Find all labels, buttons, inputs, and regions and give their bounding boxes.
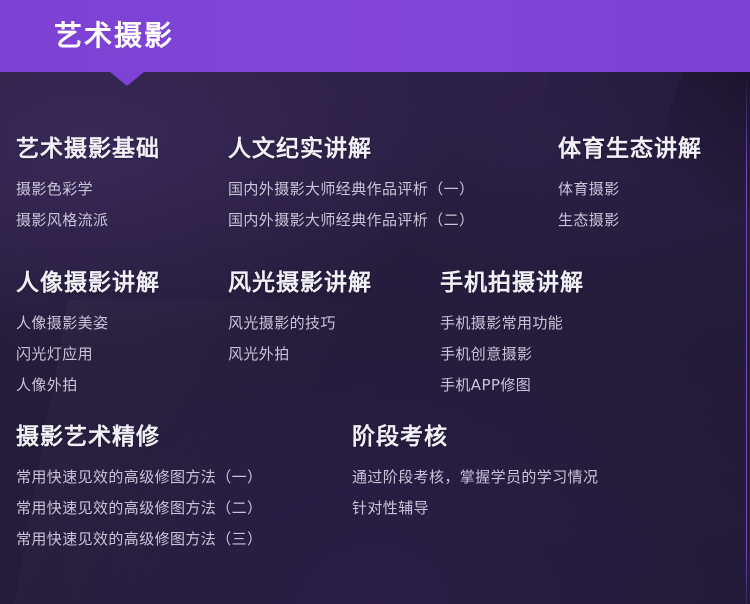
- list-item[interactable]: 通过阶段考核，掌握学员的学习情况: [352, 462, 598, 493]
- list-item[interactable]: 国内外摄影大师经典作品评析（二）: [228, 205, 474, 236]
- section-item-list: 通过阶段考核，掌握学员的学习情况 针对性辅导: [352, 462, 598, 524]
- list-item[interactable]: 人像摄影美姿: [16, 308, 160, 339]
- section-title: 摄影艺术精修: [16, 422, 262, 452]
- section-title: 风光摄影讲解: [228, 268, 372, 298]
- section-item-list: 体育摄影 生态摄影: [558, 174, 702, 236]
- list-item[interactable]: 体育摄影: [558, 174, 702, 205]
- list-item[interactable]: 手机摄影常用功能: [440, 308, 584, 339]
- list-item[interactable]: 摄影色彩学: [16, 174, 160, 205]
- section-sports-ecology: 体育生态讲解 体育摄影 生态摄影: [558, 134, 702, 236]
- section-item-list: 风光摄影的技巧 风光外拍: [228, 308, 372, 370]
- section-item-list: 摄影色彩学 摄影风格流派: [16, 174, 160, 236]
- section-title: 手机拍摄讲解: [440, 268, 584, 298]
- section-title: 人像摄影讲解: [16, 268, 160, 298]
- list-item[interactable]: 针对性辅导: [352, 493, 598, 524]
- section-portrait-photography: 人像摄影讲解 人像摄影美姿 闪光灯应用 人像外拍: [16, 268, 160, 401]
- section-art-photography-basics: 艺术摄影基础 摄影色彩学 摄影风格流派: [16, 134, 160, 236]
- list-item[interactable]: 手机APP修图: [440, 370, 584, 401]
- list-item[interactable]: 闪光灯应用: [16, 339, 160, 370]
- header-banner: 艺术摄影: [0, 0, 750, 72]
- section-humanistic-documentary: 人文纪实讲解 国内外摄影大师经典作品评析（一） 国内外摄影大师经典作品评析（二）: [228, 134, 474, 236]
- section-item-list: 手机摄影常用功能 手机创意摄影 手机APP修图: [440, 308, 584, 401]
- list-item[interactable]: 人像外拍: [16, 370, 160, 401]
- section-item-list: 国内外摄影大师经典作品评析（一） 国内外摄影大师经典作品评析（二）: [228, 174, 474, 236]
- sections-grid: 艺术摄影基础 摄影色彩学 摄影风格流派 人文纪实讲解 国内外摄影大师经典作品评析…: [0, 72, 750, 604]
- list-item[interactable]: 摄影风格流派: [16, 205, 160, 236]
- course-outline-page: 艺术摄影 艺术摄影基础 摄影色彩学 摄影风格流派 人文纪实讲解 国内外摄影大师经…: [0, 0, 750, 604]
- list-item[interactable]: 常用快速见效的高级修图方法（三）: [16, 524, 262, 555]
- section-mobile-photography: 手机拍摄讲解 手机摄影常用功能 手机创意摄影 手机APP修图: [440, 268, 584, 401]
- section-title: 人文纪实讲解: [228, 134, 474, 164]
- section-landscape-photography: 风光摄影讲解 风光摄影的技巧 风光外拍: [228, 268, 372, 370]
- section-item-list: 常用快速见效的高级修图方法（一） 常用快速见效的高级修图方法（二） 常用快速见效…: [16, 462, 262, 555]
- section-stage-assessment: 阶段考核 通过阶段考核，掌握学员的学习情况 针对性辅导: [352, 422, 598, 524]
- page-title: 艺术摄影: [54, 14, 174, 58]
- list-item[interactable]: 常用快速见效的高级修图方法（一）: [16, 462, 262, 493]
- section-item-list: 人像摄影美姿 闪光灯应用 人像外拍: [16, 308, 160, 401]
- section-title: 阶段考核: [352, 422, 598, 452]
- list-item[interactable]: 手机创意摄影: [440, 339, 584, 370]
- section-title: 艺术摄影基础: [16, 134, 160, 164]
- section-title: 体育生态讲解: [558, 134, 702, 164]
- section-photo-retouching: 摄影艺术精修 常用快速见效的高级修图方法（一） 常用快速见效的高级修图方法（二）…: [16, 422, 262, 555]
- list-item[interactable]: 风光摄影的技巧: [228, 308, 372, 339]
- list-item[interactable]: 生态摄影: [558, 205, 702, 236]
- list-item[interactable]: 常用快速见效的高级修图方法（二）: [16, 493, 262, 524]
- list-item[interactable]: 国内外摄影大师经典作品评析（一）: [228, 174, 474, 205]
- list-item[interactable]: 风光外拍: [228, 339, 372, 370]
